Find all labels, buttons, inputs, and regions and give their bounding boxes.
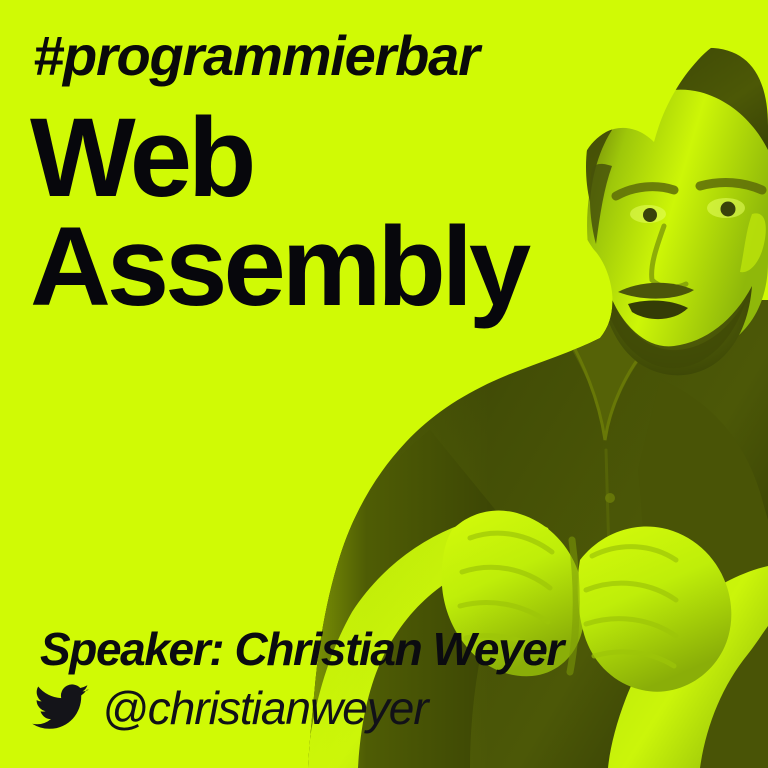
twitter-handle-row: @christianweyer [32,684,428,732]
show-hashtag: #programmierbar [33,28,479,84]
twitter-bird-icon [32,684,90,732]
episode-title: Web Assembly [30,104,527,321]
podcast-cover-art: #programmierbar Web Assembly Speaker: Ch… [0,0,768,768]
twitter-handle-text: @christianweyer [102,685,428,731]
cover-text-layer: #programmierbar Web Assembly Speaker: Ch… [0,0,768,768]
speaker-name: Speaker: Christian Weyer [40,626,563,672]
